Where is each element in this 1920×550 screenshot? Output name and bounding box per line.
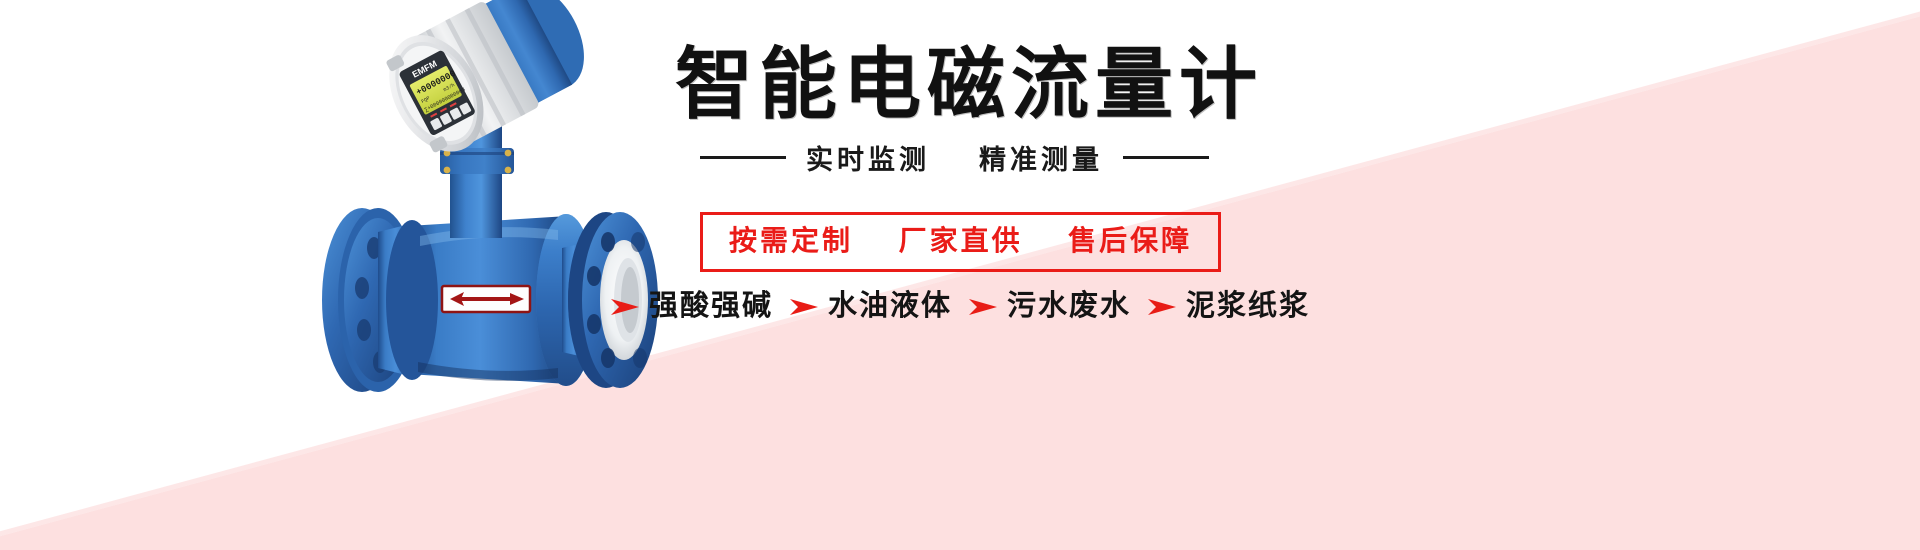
arrow-right-icon	[1147, 296, 1177, 318]
feature-label: 水油液体	[828, 292, 952, 321]
page-title: 智能电磁流量计	[675, 45, 1455, 123]
badge-item-1: 按需定制	[729, 225, 853, 256]
list-item: 泥浆纸浆	[1147, 292, 1310, 321]
promo-banner: EMFM +0000000 FQP m3/h ∑+0000000000m3 智能…	[0, 0, 1920, 550]
feature-label: 泥浆纸浆	[1186, 292, 1310, 321]
rule-right	[1123, 156, 1209, 159]
arrow-right-icon	[610, 296, 640, 318]
badge-item-3: 售后保障	[1068, 225, 1192, 256]
subtitle-left: 实时监测	[806, 145, 930, 175]
feature-label: 强酸强碱	[649, 292, 773, 321]
arrow-right-icon	[968, 296, 998, 318]
list-item: 污水废水	[968, 292, 1131, 321]
subtitle-row: 实时监测 精准测量	[700, 138, 1400, 177]
arrow-right-icon	[789, 296, 819, 318]
list-item: 强酸强碱	[610, 292, 773, 321]
banner-content: 智能电磁流量计 实时监测 精准测量 按需定制 厂家直供 售后保障	[600, 0, 1500, 550]
list-item: 水油液体	[789, 292, 952, 321]
feature-list: 强酸强碱 水油液体 污水废水 泥浆纸浆	[610, 292, 1310, 321]
subtitle-right: 精准测量	[979, 145, 1103, 175]
feature-label: 污水废水	[1007, 292, 1131, 321]
status-badge: 按需定制 厂家直供 售后保障	[700, 212, 1221, 272]
flow-direction-arrow-label	[442, 286, 530, 312]
rule-left	[700, 156, 786, 159]
badge-item-2: 厂家直供	[899, 225, 1023, 256]
badge-text-group: 按需定制 厂家直供 售后保障	[729, 224, 1192, 258]
subtitle-group: 实时监测 精准测量	[806, 138, 1103, 177]
